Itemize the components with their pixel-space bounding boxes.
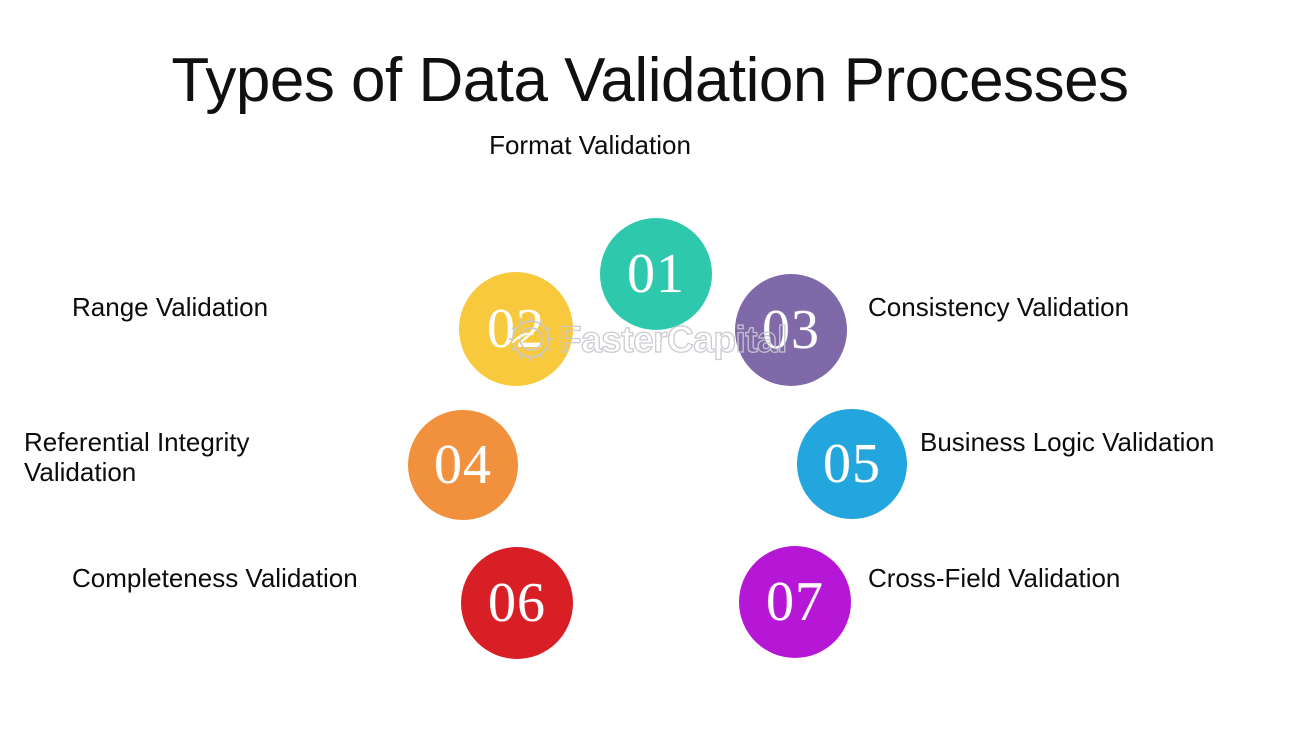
- node-label-06: Completeness Validation: [72, 563, 432, 593]
- node-label-03: Consistency Validation: [868, 292, 1248, 322]
- node-number: 01: [627, 246, 685, 302]
- node-number: 07: [766, 574, 824, 630]
- node-number: 06: [488, 575, 546, 631]
- node-number: 03: [762, 302, 820, 358]
- infographic-canvas: Types of Data Validation Processes 01For…: [0, 0, 1300, 730]
- node-circle-07[interactable]: 07: [739, 546, 851, 658]
- node-label-01: Format Validation: [430, 130, 750, 160]
- node-label-04: Referential Integrity Validation: [24, 427, 374, 487]
- node-circle-05[interactable]: 05: [797, 409, 907, 519]
- node-number: 05: [823, 436, 881, 492]
- node-label-05: Business Logic Validation: [920, 427, 1300, 457]
- page-title: Types of Data Validation Processes: [0, 44, 1300, 118]
- node-number: 04: [434, 437, 492, 493]
- node-number: 02: [487, 301, 545, 357]
- node-circle-04[interactable]: 04: [408, 410, 518, 520]
- node-circle-01[interactable]: 01: [600, 218, 712, 330]
- node-label-02: Range Validation: [72, 292, 402, 322]
- node-circle-02[interactable]: 02: [459, 272, 573, 386]
- node-label-07: Cross-Field Validation: [868, 563, 1248, 593]
- node-circle-03[interactable]: 03: [735, 274, 847, 386]
- node-circle-06[interactable]: 06: [461, 547, 573, 659]
